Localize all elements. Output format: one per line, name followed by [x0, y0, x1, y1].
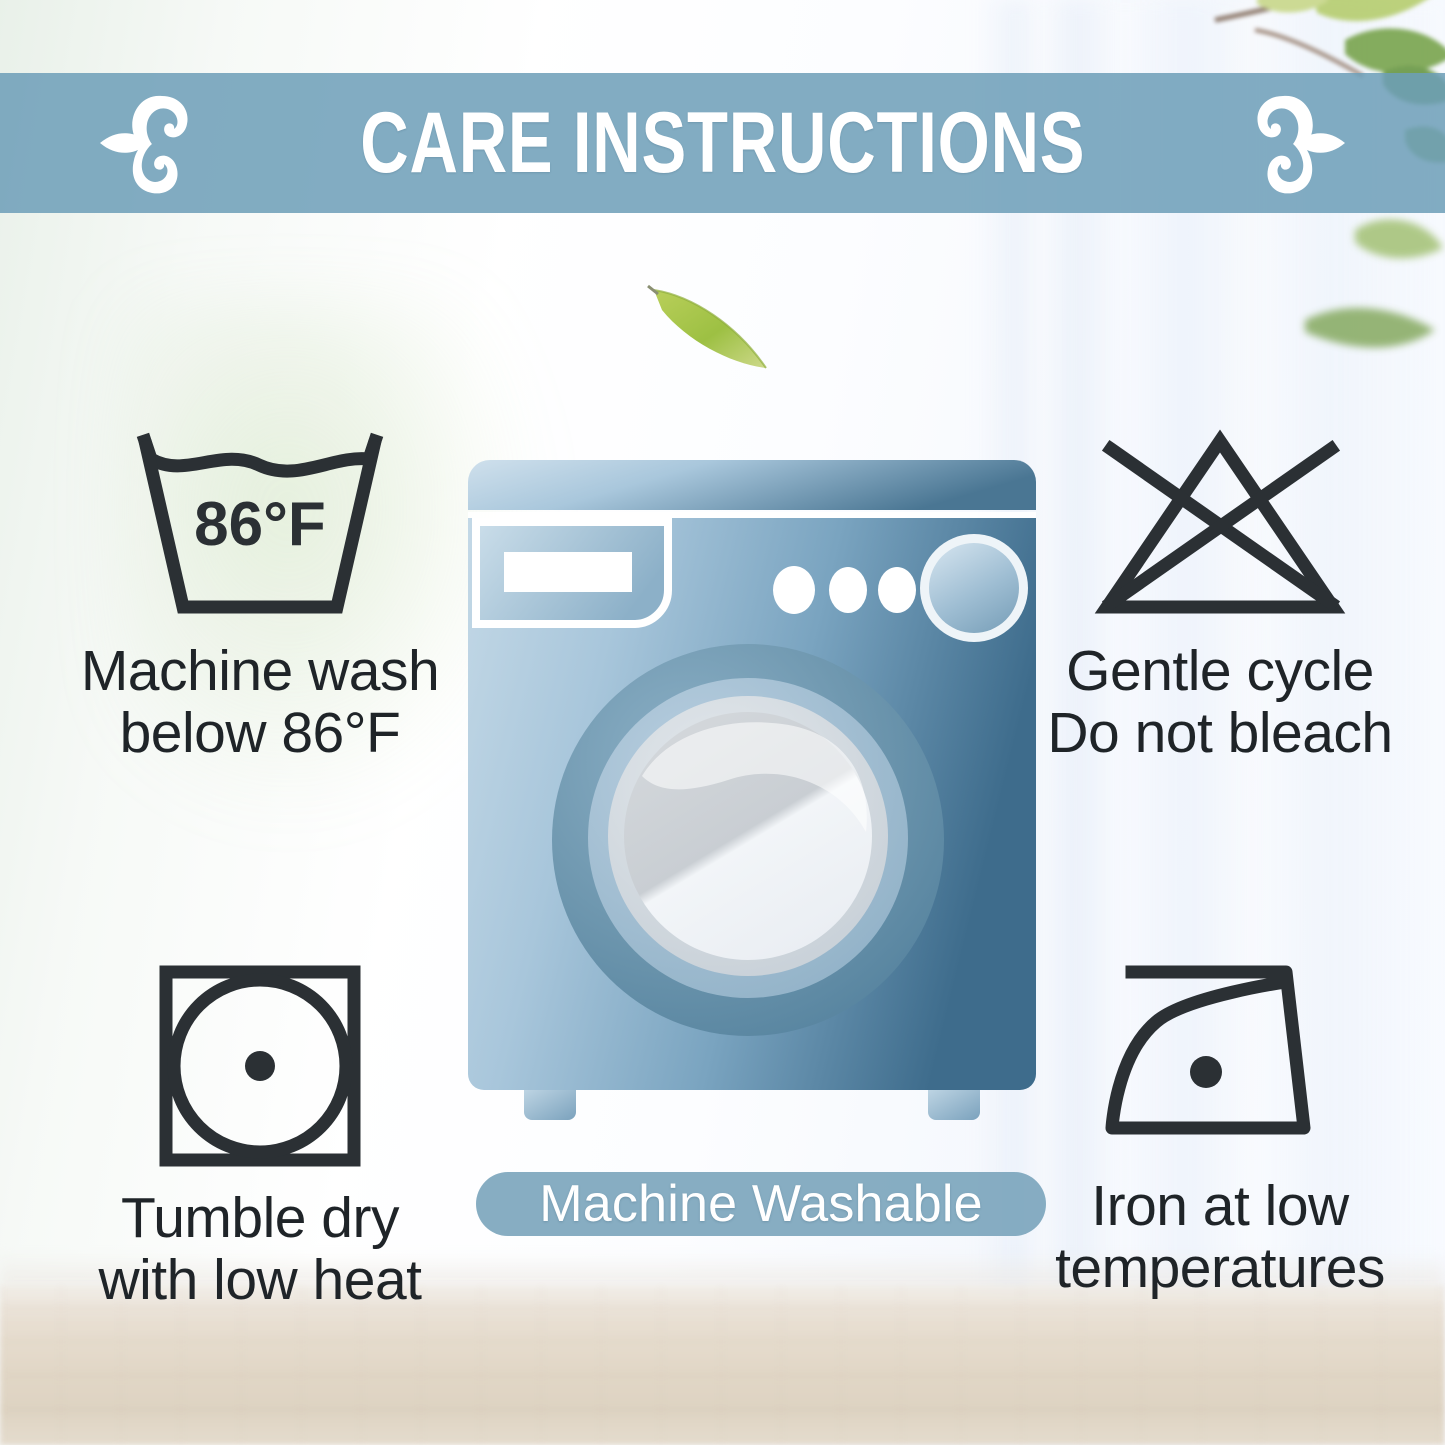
care-symbol-wash-caption: Machine wash below 86°F [81, 641, 439, 764]
care-symbol-bleach-caption: Gentle cycle Do not bleach [1047, 641, 1392, 764]
care-instructions-page: CARE INSTRUCTIONS 86°F Machine wash b [0, 0, 1445, 1445]
detergent-drawer-slot [504, 552, 632, 592]
care-symbol-bleach: Gentle cycle Do not bleach [1000, 425, 1440, 764]
fleur-de-lis-icon-right [1233, 88, 1353, 198]
care-symbol-iron: Iron at low temperatures [1000, 960, 1440, 1299]
control-button-3 [878, 567, 916, 613]
machine-foot-left [524, 1090, 576, 1120]
control-knob [929, 543, 1019, 633]
green-leaf-icon [640, 272, 780, 382]
care-symbol-tumble-dry: Tumble dry with low heat [35, 960, 485, 1311]
care-instructions-banner: CARE INSTRUCTIONS [0, 73, 1445, 213]
machine-foot-right [928, 1090, 980, 1120]
iron-low-temperature-icon [1090, 960, 1350, 1160]
tumble-dry-low-icon [154, 960, 366, 1172]
washing-machine-illustration [452, 440, 1052, 1140]
fleur-de-lis-icon-left [92, 88, 212, 198]
wash-temperature-label: 86°F [194, 490, 326, 559]
machine-lid [468, 460, 1036, 510]
machine-washable-badge: Machine Washable [476, 1172, 1046, 1236]
care-symbol-wash: 86°F Machine wash below 86°F [35, 425, 485, 764]
control-button-2 [829, 567, 867, 613]
care-symbol-tumble-dry-caption: Tumble dry with low heat [98, 1188, 421, 1311]
do-not-bleach-triangle-icon [1085, 425, 1355, 625]
control-button-1 [773, 566, 815, 614]
page-title: CARE INSTRUCTIONS [360, 100, 1085, 186]
care-symbol-iron-caption: Iron at low temperatures [1055, 1176, 1385, 1299]
machine-washable-badge-label: Machine Washable [539, 1178, 983, 1230]
wash-tub-icon: 86°F [125, 425, 395, 625]
background-leaf-lower-icon [1265, 200, 1445, 380]
